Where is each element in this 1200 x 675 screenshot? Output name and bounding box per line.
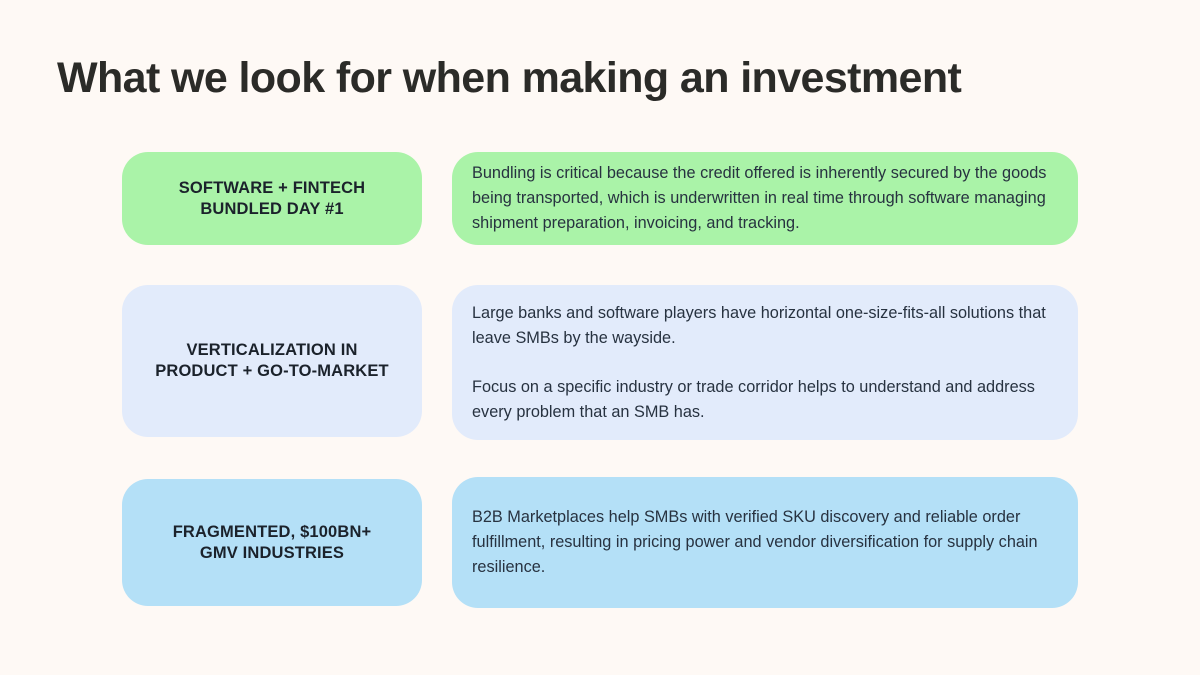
criteria-label-text: SOFTWARE + FINTECH BUNDLED DAY #1 [179, 178, 366, 220]
criteria-body-paragraph: B2B Marketplaces help SMBs with verified… [472, 505, 1056, 580]
criteria-body-paragraph: Large banks and software players have ho… [472, 301, 1056, 351]
criteria-label-card-fragmented-gmv[interactable]: FRAGMENTED, $100BN+ GMV INDUSTRIES [122, 479, 422, 606]
criteria-label-card-verticalization[interactable]: VERTICALIZATION IN PRODUCT + GO-TO-MARKE… [122, 285, 422, 437]
criteria-label-text: FRAGMENTED, $100BN+ GMV INDUSTRIES [173, 522, 372, 564]
page-title: What we look for when making an investme… [57, 50, 1117, 106]
criteria-body-paragraph: Focus on a specific industry or trade co… [472, 375, 1056, 425]
criteria-body-card-verticalization[interactable]: Large banks and software players have ho… [452, 285, 1078, 440]
criteria-label-text: VERTICALIZATION IN PRODUCT + GO-TO-MARKE… [155, 340, 389, 382]
criteria-label-card-software-fintech[interactable]: SOFTWARE + FINTECH BUNDLED DAY #1 [122, 152, 422, 245]
criteria-body-card-fragmented-gmv[interactable]: B2B Marketplaces help SMBs with verified… [452, 477, 1078, 608]
slide-canvas: What we look for when making an investme… [0, 0, 1200, 675]
criteria-body-paragraph: Bundling is critical because the credit … [472, 161, 1056, 236]
criteria-body-card-software-fintech[interactable]: Bundling is critical because the credit … [452, 152, 1078, 245]
